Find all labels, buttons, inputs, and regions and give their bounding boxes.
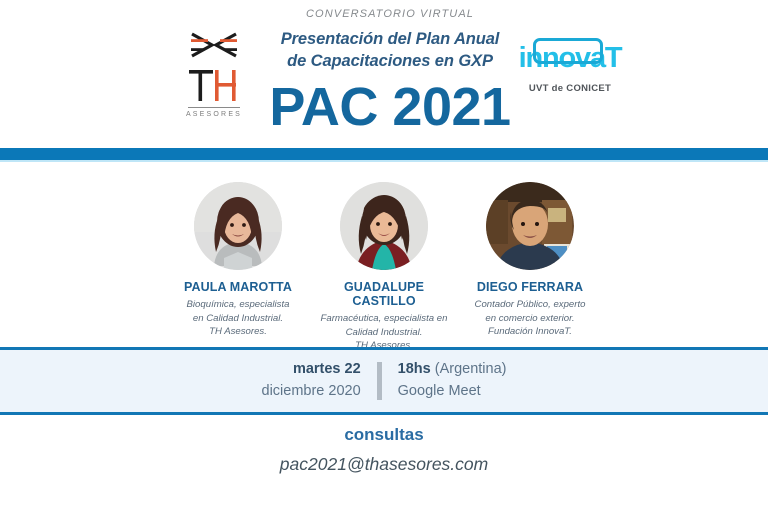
speaker-bio-line: Calidad Industrial. (311, 326, 457, 340)
event-subtitle-line2: de Capacitaciones en GXP (244, 51, 536, 73)
speaker-name: PAULA MAROTTA (165, 280, 311, 294)
speaker-bio-line: Contador Público, experto (457, 298, 603, 312)
avatar (486, 182, 574, 270)
speaker-name: DIEGO FERRARA (457, 280, 603, 294)
innovat-logo: innovaT UVT de CONICET (518, 44, 622, 94)
innovat-wordmark: innovaT (519, 44, 622, 73)
speaker-bio: Bioquímica, especialista en Calidad Indu… (165, 298, 311, 339)
speaker-bio-line: en Calidad Industrial. (165, 312, 311, 326)
event-kicker: CONVERSATORIO VIRTUAL (244, 8, 536, 20)
contact-email[interactable]: pac2021@thasesores.com (0, 454, 768, 475)
event-details-band: martes 22 diciembre 2020 18hs (Argentina… (0, 347, 768, 415)
footer-section: consultas pac2021@thasesores.com (0, 425, 768, 475)
th-dna-mark-icon (188, 30, 240, 60)
innovat-subtitle: UVT de CONICET (518, 83, 622, 94)
th-letters-icon (187, 68, 241, 102)
header-section: ASESORES CONVERSATORIO VIRTUAL Presentac… (0, 0, 768, 148)
th-logo-divider (188, 107, 240, 108)
event-subtitle-line1: Presentación del Plan Anual (244, 29, 536, 51)
header-accent-band (0, 148, 768, 160)
event-time: 18hs (398, 361, 431, 377)
event-time-row: 18hs (Argentina) (398, 359, 507, 381)
event-day: martes 22 (262, 359, 361, 381)
event-timezone: (Argentina) (435, 361, 507, 377)
th-asesores-logo: ASESORES (178, 30, 250, 128)
speaker-bio-line: Bioquímica, especialista (165, 298, 311, 312)
speaker-card: GUADALUPE CASTILLO Farmacéutica, especia… (311, 172, 457, 353)
header-accent-band-underline (0, 160, 768, 162)
speaker-bio-line: en comercio exterior. (457, 312, 603, 326)
innovat-box-icon (533, 38, 603, 64)
event-platform: Google Meet (398, 381, 507, 403)
speaker-card: PAULA MAROTTA Bioquímica, especialista e… (165, 172, 311, 339)
event-month-year: diciembre 2020 (262, 381, 361, 403)
page-title: PAC 2021 (244, 80, 536, 134)
speaker-name: GUADALUPE CASTILLO (311, 280, 457, 308)
event-time-block: 18hs (Argentina) Google Meet (382, 359, 507, 403)
speaker-bio-line: TH Asesores. (165, 325, 311, 339)
title-block: CONVERSATORIO VIRTUAL Presentación del P… (244, 8, 536, 73)
event-subtitle: Presentación del Plan Anual de Capacitac… (244, 29, 536, 73)
speaker-bio-line: Farmacéutica, especialista en (311, 312, 457, 326)
speakers-section: PAULA MAROTTA Bioquímica, especialista e… (0, 172, 768, 344)
avatar (194, 182, 282, 270)
speaker-card: DIEGO FERRARA Contador Público, experto … (457, 172, 603, 339)
speaker-bio-line: Fundación InnovaT. (457, 325, 603, 339)
contact-label: consultas (0, 425, 768, 445)
speaker-bio: Contador Público, experto en comercio ex… (457, 298, 603, 339)
event-date-block: martes 22 diciembre 2020 (262, 359, 377, 403)
avatar (340, 182, 428, 270)
th-logo-wordmark: ASESORES (186, 111, 242, 118)
